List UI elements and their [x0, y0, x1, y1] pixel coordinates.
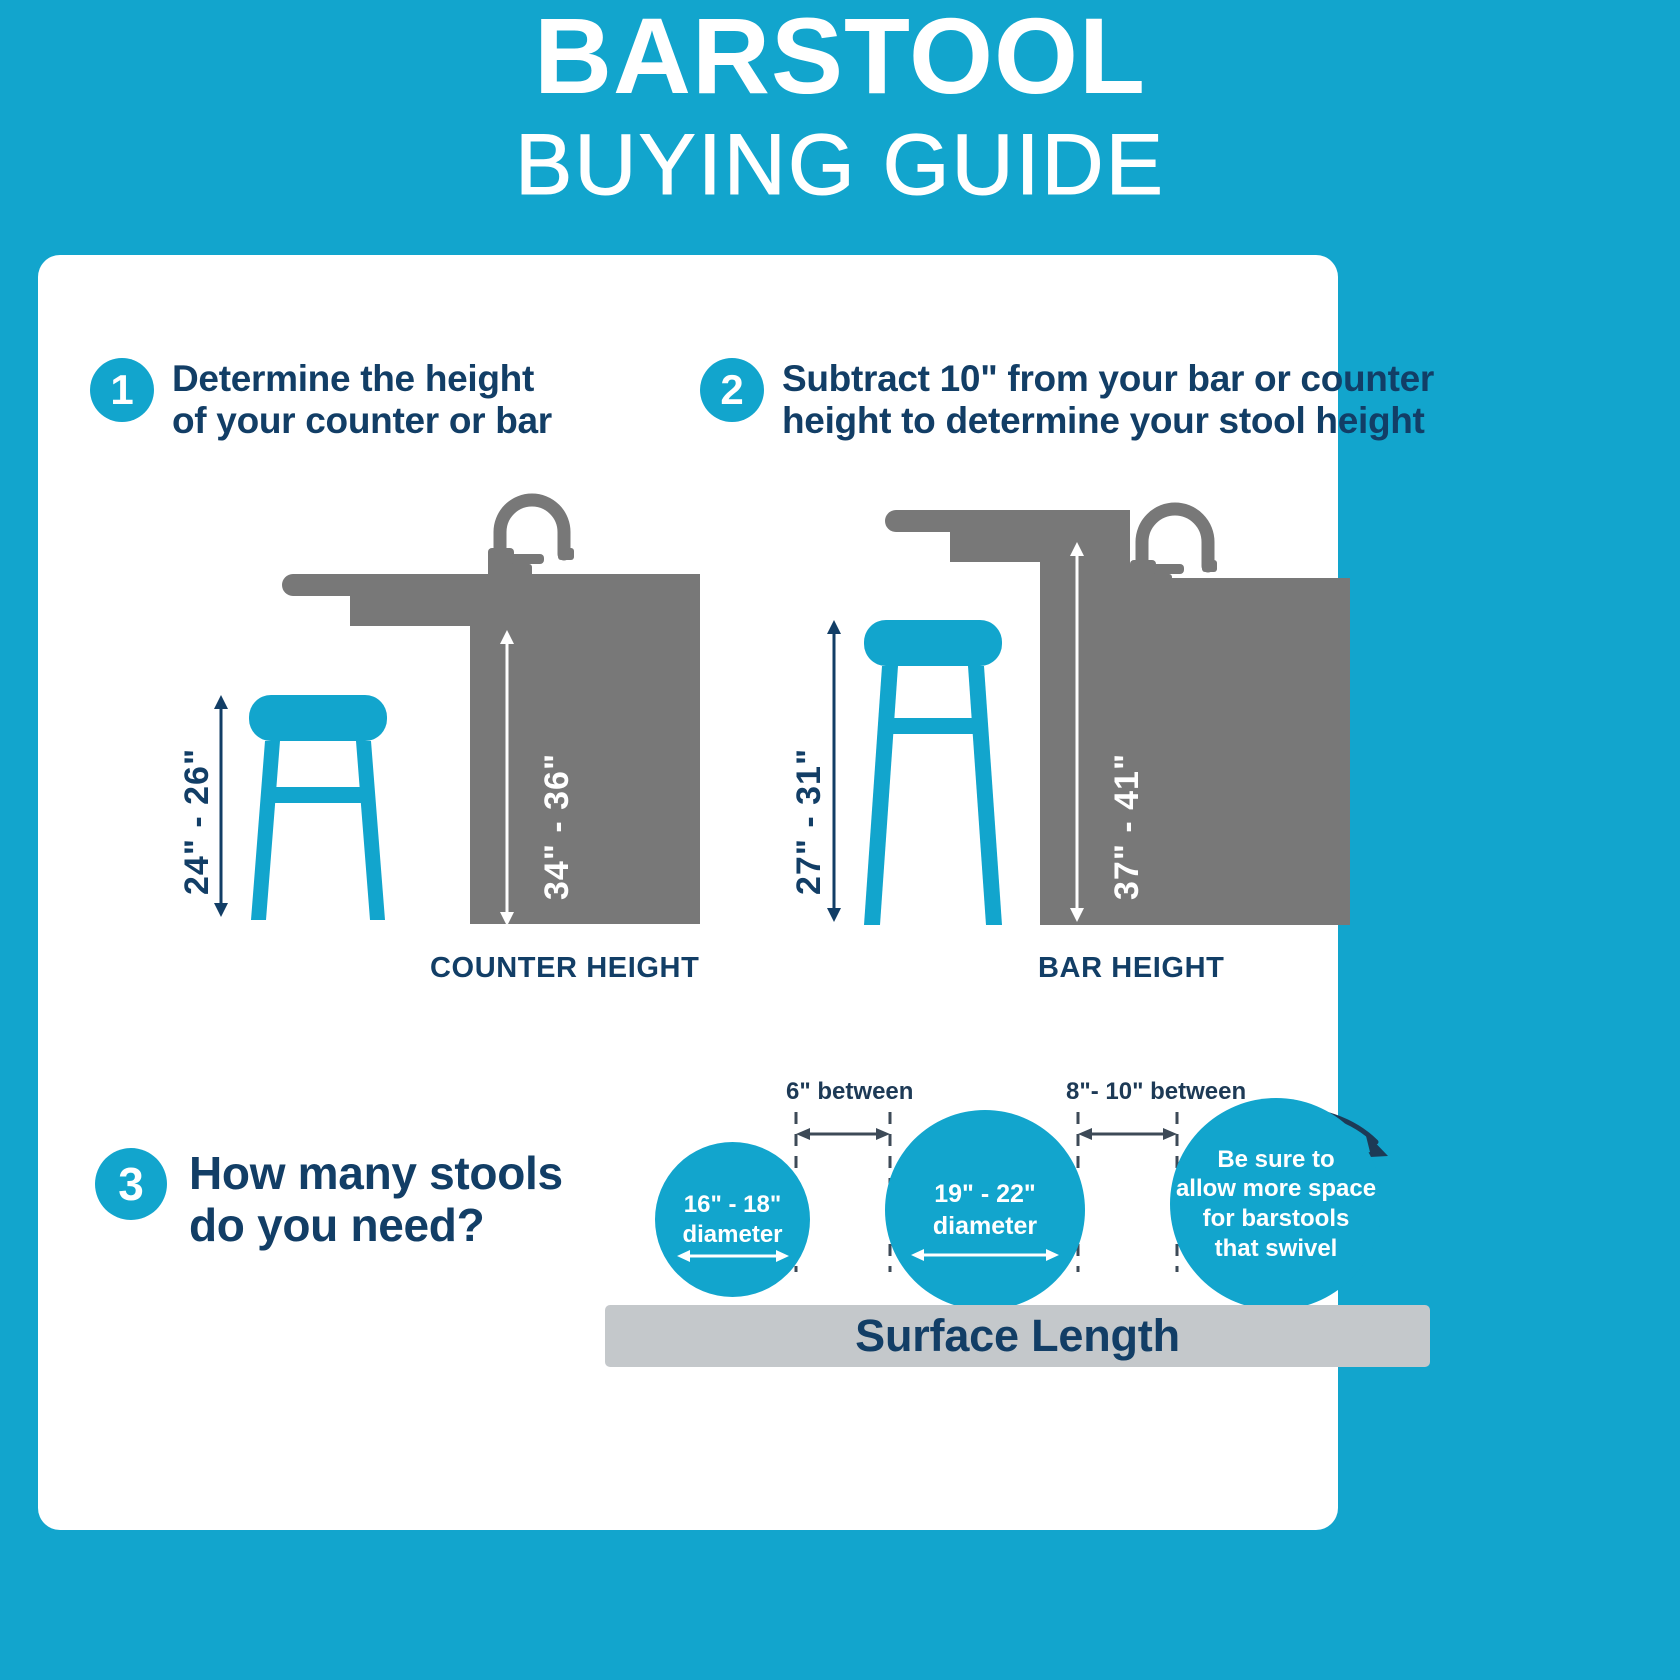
page-header: BARSTOOL BUYING GUIDE — [0, 0, 1680, 250]
counter-height-caption: COUNTER HEIGHT — [430, 952, 699, 985]
gap-label-1: 6" between — [786, 1078, 913, 1106]
stool-circle-2-size: 19" - 22" — [934, 1178, 1036, 1211]
surface-length-label: Surface Length — [855, 1310, 1180, 1362]
step-1-label: Determine the height of your counter or … — [172, 358, 552, 442]
counter-height-arrow — [495, 630, 519, 926]
stool-circle-2-arrow — [911, 1246, 1059, 1264]
step-2: 2 Subtract 10" from your bar or counter … — [700, 358, 1434, 442]
bar-surface-dimension: 37" - 41" — [1108, 753, 1147, 900]
stool-circle-3: Be sure to allow more space for barstool… — [1170, 1098, 1382, 1310]
stool-circle-1-arrow — [677, 1247, 789, 1265]
counter-surface-dimension: 34" - 36" — [538, 753, 577, 900]
step-1-badge: 1 — [90, 358, 154, 422]
stool-circle-2: 19" - 22" diameter — [885, 1110, 1085, 1310]
step-3-badge: 3 — [95, 1148, 167, 1220]
step-3: 3 How many stools do you need? — [95, 1148, 563, 1251]
step-1: 1 Determine the height of your counter o… — [90, 358, 552, 442]
stool-circle-1-size: 16" - 18" — [684, 1190, 781, 1220]
step-2-label: Subtract 10" from your bar or counter he… — [782, 358, 1434, 442]
bar-stool-icon — [850, 620, 1015, 925]
bar-height-arrow — [1065, 542, 1089, 922]
counter-stool-dimension: 24" - 26" — [178, 748, 217, 895]
stool-circle-1-unit: diameter — [682, 1220, 782, 1250]
bar-height-caption: BAR HEIGHT — [1038, 952, 1224, 985]
step-3-label: How many stools do you need? — [189, 1148, 563, 1251]
stool-circle-2-unit: diameter — [933, 1210, 1037, 1243]
bar-lower-counter — [1120, 578, 1350, 925]
step-2-badge: 2 — [700, 358, 764, 422]
bar-stool-dimension: 27" - 31" — [790, 748, 829, 895]
counter-stool-icon — [235, 695, 400, 920]
counter-height-diagram: 34" - 36" 24" - 26" — [170, 470, 730, 990]
surface-length-bar: Surface Length — [605, 1305, 1430, 1367]
bar-height-diagram: 37" - 41" 27" - 31" — [790, 470, 1350, 990]
page-title-main: BARSTOOL — [534, 2, 1146, 110]
stool-circle-3-note: Be sure to allow more space for barstool… — [1176, 1145, 1376, 1264]
page-title-sub: BUYING GUIDE — [515, 120, 1165, 210]
stool-spacing-diagram: 6" between 8"- 10" between 16" - 18" dia… — [600, 1070, 1450, 1340]
gap-2-dimension — [1070, 1112, 1185, 1272]
faucet-icon — [470, 470, 600, 590]
stool-circle-1: 16" - 18" diameter — [655, 1142, 810, 1297]
